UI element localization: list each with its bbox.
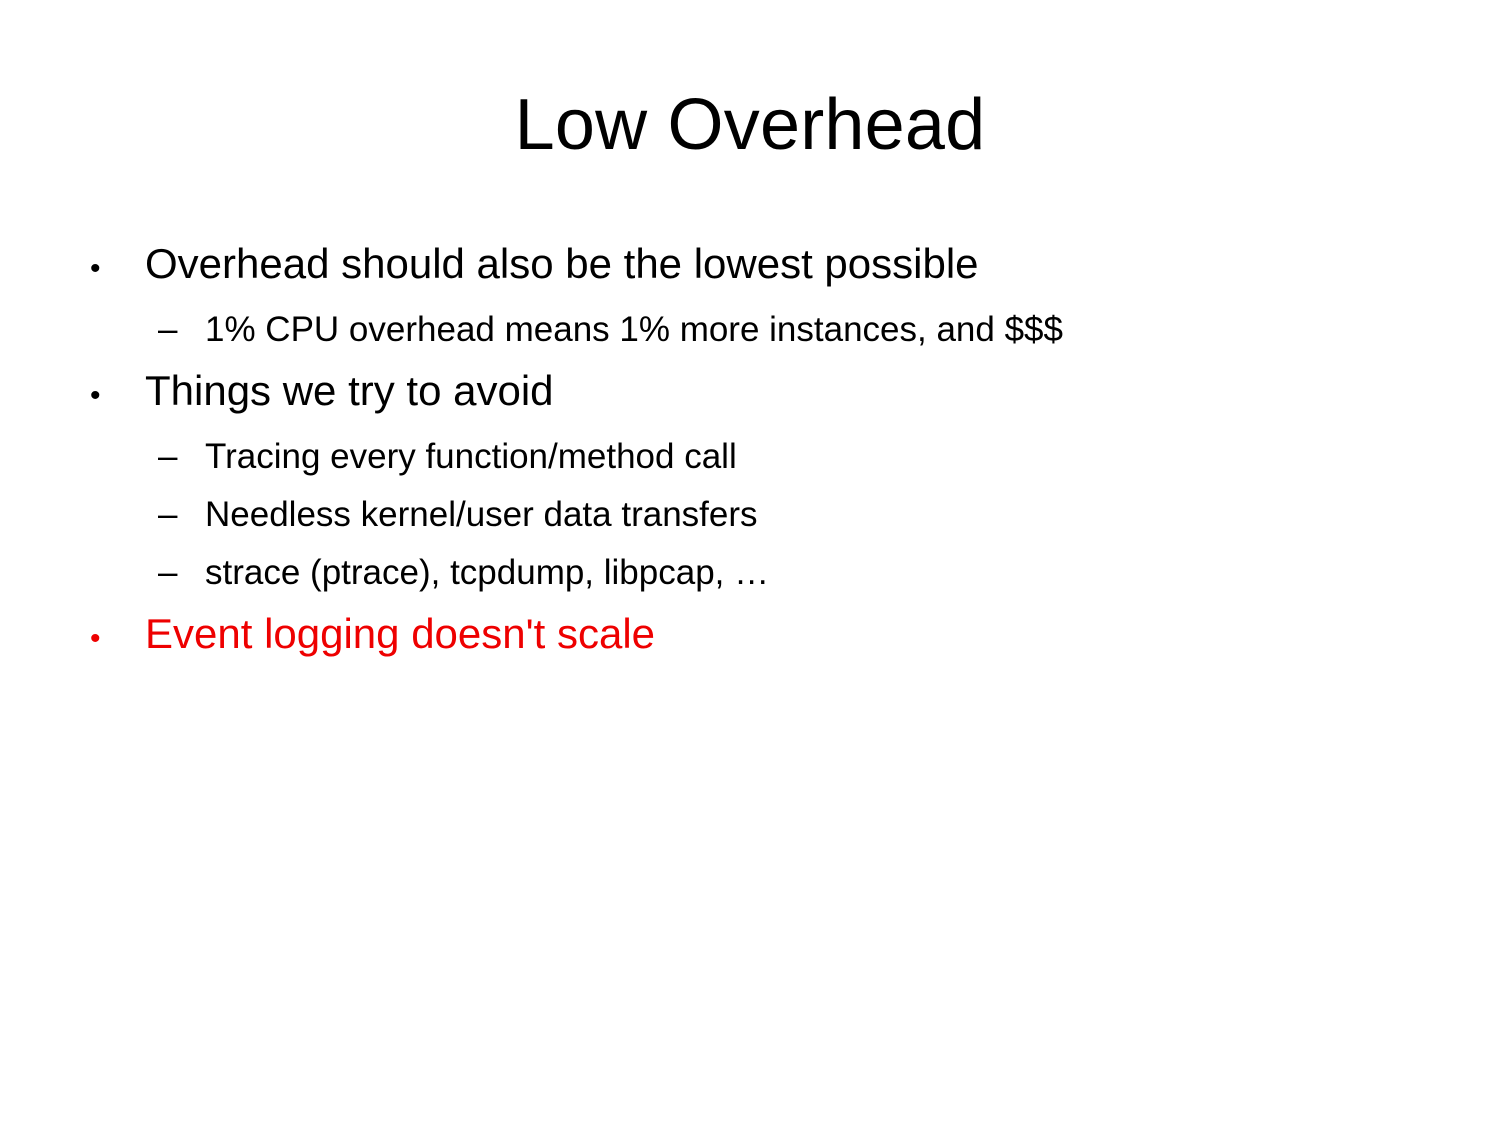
bullet-text-highlighted: Event logging doesn't scale <box>145 602 1500 666</box>
sub-bullet-item: – Needless kernel/user data transfers <box>0 486 1500 544</box>
slide-canvas: Low Overhead • Overhead should also be t… <box>0 0 1500 1125</box>
bullet-dash-icon: – <box>158 301 205 359</box>
sub-bullet-text: 1% CPU overhead means 1% more instances,… <box>205 301 1500 359</box>
bullet-dot-icon: • <box>90 237 145 301</box>
slide-title: Low Overhead <box>0 82 1500 168</box>
sub-bullet-text: Needless kernel/user data transfers <box>205 486 1500 544</box>
bullet-dash-icon: – <box>158 428 205 486</box>
sub-bullet-text: strace (ptrace), tcpdump, libpcap, … <box>205 544 1500 602</box>
bullet-dash-icon: – <box>158 544 205 602</box>
sub-bullet-text: Tracing every function/method call <box>205 428 1500 486</box>
sub-bullet-item: – strace (ptrace), tcpdump, libpcap, … <box>0 544 1500 602</box>
bullet-dash-icon: – <box>158 486 205 544</box>
slide-body-content: • Overhead should also be the lowest pos… <box>0 232 1500 671</box>
bullet-dot-icon: • <box>90 364 145 428</box>
bullet-item: • Things we try to avoid <box>0 359 1500 428</box>
bullet-text: Things we try to avoid <box>145 359 1500 423</box>
bullet-dot-icon: • <box>90 607 145 671</box>
bullet-text: Overhead should also be the lowest possi… <box>145 232 1500 296</box>
bullet-item-highlighted: • Event logging doesn't scale <box>0 602 1500 671</box>
sub-bullet-item: – 1% CPU overhead means 1% more instance… <box>0 301 1500 359</box>
bullet-item: • Overhead should also be the lowest pos… <box>0 232 1500 301</box>
sub-bullet-item: – Tracing every function/method call <box>0 428 1500 486</box>
